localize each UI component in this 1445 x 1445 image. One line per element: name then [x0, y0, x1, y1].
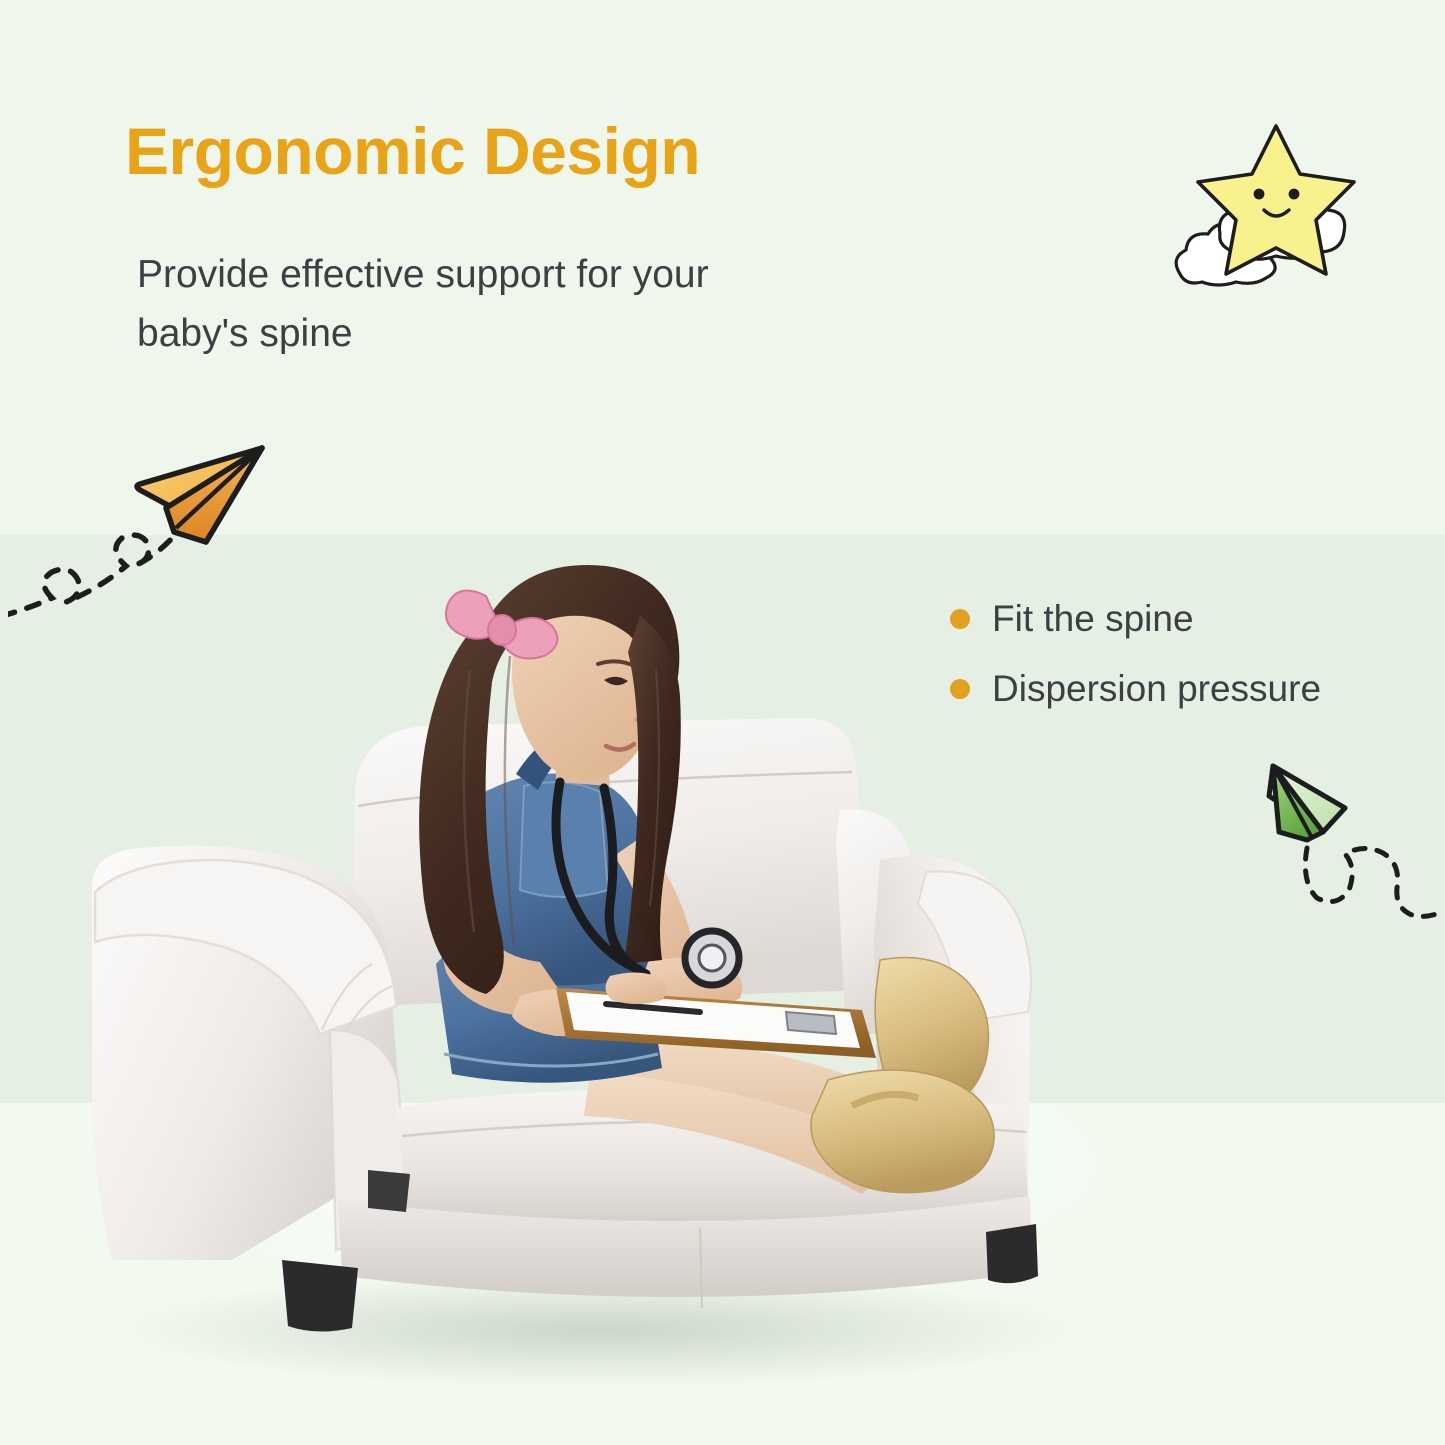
list-item: Dispersion pressure	[950, 668, 1321, 710]
bullet-dot-icon	[950, 679, 970, 699]
page-subtitle: Provide effective support for your baby'…	[137, 245, 797, 364]
list-item: Fit the spine	[950, 598, 1321, 640]
feature-label: Dispersion pressure	[992, 668, 1321, 710]
feature-list: Fit the spine Dispersion pressure	[950, 598, 1321, 738]
child-pointing-finger	[605, 972, 666, 1004]
feature-label: Fit the spine	[992, 598, 1194, 640]
bullet-dot-icon	[950, 609, 970, 629]
stethoscope-diaphragm	[699, 945, 725, 971]
sofa-foot-back-left	[368, 1170, 410, 1212]
sofa-foot-front-right	[986, 1224, 1038, 1283]
clipboard-clip	[786, 1012, 836, 1034]
sofa-foot-front-left	[282, 1260, 358, 1332]
poster-canvas: Ergonomic Design Provide effective suppo…	[0, 0, 1445, 1445]
page-title: Ergonomic Design	[125, 113, 700, 189]
